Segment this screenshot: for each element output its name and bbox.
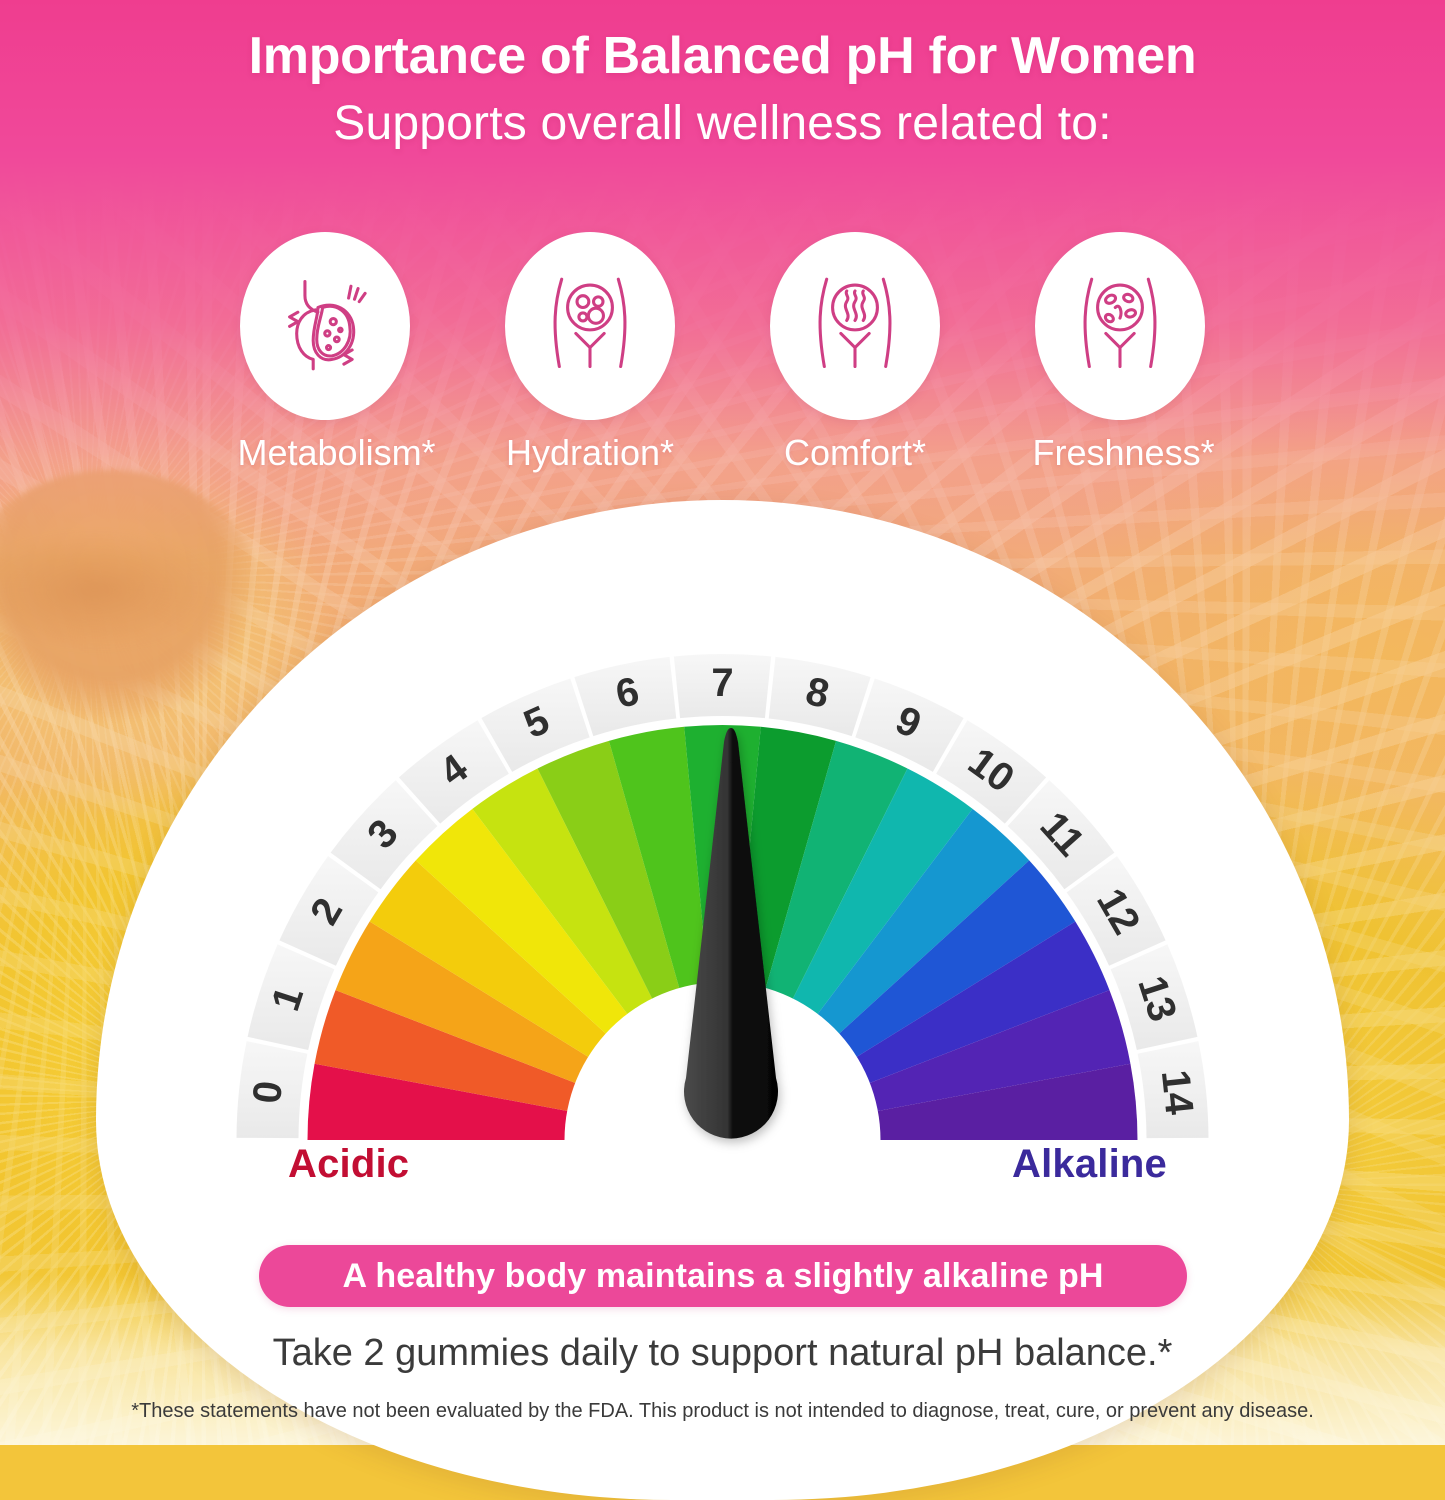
benefit-item-metabolism: Metabolism* [238, 232, 413, 474]
benefit-icon-circle [1035, 232, 1205, 420]
acidic-label: Acidic [288, 1142, 409, 1187]
benefit-icon-circle [240, 232, 410, 420]
benefit-label: Hydration* [503, 432, 678, 474]
stomach-icon [266, 265, 384, 388]
hips-droplets-icon [531, 265, 649, 388]
gauge-tick-label: 14 [1153, 1068, 1201, 1118]
header-block: Importance of Balanced pH for Women Supp… [0, 26, 1445, 151]
benefit-icon-circle [770, 232, 940, 420]
gauge-tick-label: 0 [245, 1079, 291, 1106]
benefit-label: Metabolism* [238, 432, 413, 474]
alkaline-label: Alkaline [1012, 1142, 1167, 1187]
dosage-text: Take 2 gummies daily to support natural … [0, 1332, 1445, 1375]
page-title: Importance of Balanced pH for Women [0, 26, 1445, 86]
healthy-ph-banner: A healthy body maintains a slightly alka… [259, 1245, 1187, 1307]
benefit-item-freshness: Freshness* [1033, 232, 1208, 474]
benefit-icon-circle [505, 232, 675, 420]
banner-text: A healthy body maintains a slightly alka… [342, 1257, 1103, 1296]
benefit-item-comfort: Comfort* [768, 232, 943, 474]
benefit-item-hydration: Hydration* [503, 232, 678, 474]
hips-steam-icon [796, 265, 914, 388]
hips-bacteria-icon [1061, 265, 1179, 388]
gauge-tick-label: 7 [711, 661, 733, 705]
benefits-row: Metabolism* Hydration* [0, 232, 1445, 474]
gauge-needle [646, 726, 816, 1191]
fda-disclaimer: *These statements have not been evaluate… [0, 1400, 1445, 1423]
page-subtitle: Supports overall wellness related to: [0, 96, 1445, 151]
benefit-label: Freshness* [1033, 432, 1208, 474]
benefit-label: Comfort* [768, 432, 943, 474]
